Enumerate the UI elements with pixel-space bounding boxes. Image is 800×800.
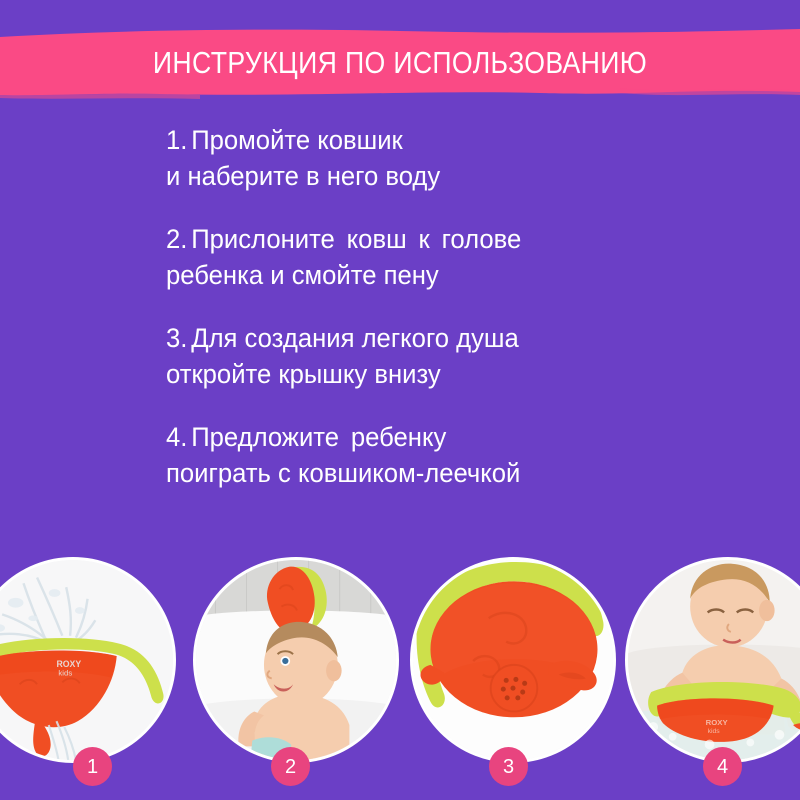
scoop-underside-illustration bbox=[413, 560, 613, 760]
photo-circle-1[interactable]: ROXY kids bbox=[0, 557, 176, 763]
step-3: 3.Для создания легкого душа откройте кры… bbox=[166, 320, 686, 392]
photo-circle-2[interactable] bbox=[193, 557, 399, 763]
photo-strip: ROXY kids 1 bbox=[0, 545, 800, 800]
title-banner: ИНСТРУКЦИЯ ПО ИСПОЛЬЗОВАНИЮ bbox=[0, 0, 800, 110]
step-3-line-1: 3.Для создания легкого душа bbox=[166, 320, 660, 356]
page-title: ИНСТРУКЦИЯ ПО ИСПОЛЬЗОВАНИЮ bbox=[56, 47, 744, 78]
svg-text:ROXY: ROXY bbox=[706, 718, 729, 727]
instruction-infographic: ИНСТРУКЦИЯ ПО ИСПОЛЬЗОВАНИЮ 1.Промойте к… bbox=[0, 0, 800, 800]
photo-3-image bbox=[413, 560, 613, 760]
step-2-line-2: ребенка и смойте пену bbox=[166, 257, 660, 293]
step-2-line-1: 2.Прислоните ковш к голове bbox=[166, 221, 660, 257]
step-4: 4.Предложите ребенку поиграть с ковшиком… bbox=[166, 419, 686, 491]
photo-1-image: ROXY kids bbox=[0, 560, 173, 760]
step-3-number: 3. bbox=[166, 323, 187, 353]
svg-text:ROXY: ROXY bbox=[56, 659, 81, 669]
photo-circle-4[interactable]: ROXY kids bbox=[625, 557, 800, 763]
photo-2-image bbox=[196, 560, 396, 760]
photo-item-3: 3 bbox=[410, 557, 616, 763]
step-2-text-1: Прислоните ковш к голове bbox=[191, 224, 521, 254]
photo-badge-2: 2 bbox=[271, 747, 310, 786]
photo-item-4: ROXY kids 4 bbox=[625, 557, 800, 763]
baby-rinsing-illustration bbox=[196, 560, 396, 760]
photo-badge-3: 3 bbox=[489, 747, 528, 786]
step-4-line-1: 4.Предложите ребенку bbox=[166, 419, 660, 455]
step-3-text-1: Для создания легкого душа bbox=[191, 323, 519, 353]
photo-badge-4: 4 bbox=[703, 747, 742, 786]
baby-playing-illustration: ROXY kids bbox=[628, 560, 800, 760]
step-1-line-2: и наберите в него воду bbox=[166, 158, 660, 194]
photo-4-image: ROXY kids bbox=[628, 560, 800, 760]
step-4-number: 4. bbox=[166, 422, 187, 452]
scoop-water-illustration: ROXY kids bbox=[0, 560, 173, 760]
step-2: 2.Прислоните ковш к голове ребенка и смо… bbox=[166, 221, 686, 293]
step-1-line-1: 1.Промойте ковшик bbox=[166, 122, 660, 158]
step-1-text-1: Промойте ковшик bbox=[191, 125, 403, 155]
photo-badge-1: 1 bbox=[73, 747, 112, 786]
step-2-number: 2. bbox=[166, 224, 187, 254]
svg-text:kids: kids bbox=[58, 669, 72, 678]
svg-text:kids: kids bbox=[708, 728, 721, 735]
step-1-number: 1. bbox=[166, 125, 187, 155]
step-1: 1.Промойте ковшик и наберите в него воду bbox=[166, 122, 686, 194]
step-4-line-2: поиграть с ковшиком-леечкой bbox=[166, 455, 660, 491]
step-3-line-2: откройте крышку внизу bbox=[166, 356, 660, 392]
photo-circle-3[interactable] bbox=[410, 557, 616, 763]
photo-item-2: 2 bbox=[193, 557, 399, 763]
step-4-text-1: Предложите ребенку bbox=[191, 422, 446, 452]
photo-item-1: ROXY kids 1 bbox=[0, 557, 176, 763]
instruction-steps: 1.Промойте ковшик и наберите в него воду… bbox=[166, 122, 686, 491]
